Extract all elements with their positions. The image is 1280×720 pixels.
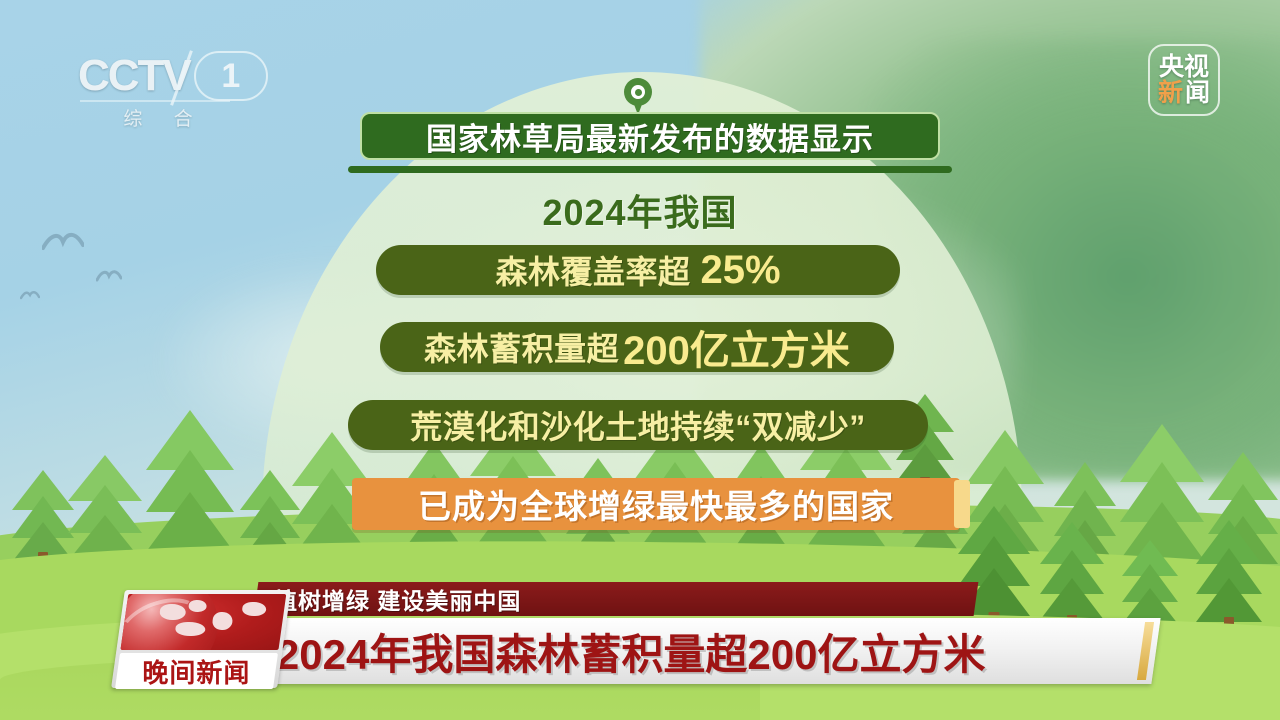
- cctv-news-logo: 央视 新 闻: [1148, 44, 1220, 116]
- tree-illustration: [12, 470, 74, 566]
- logo-underline: [80, 100, 230, 102]
- broadcast-screen: CCTV 1 综 合 央视 新 闻 国家林草局最新发布的数据显示 2024年我国…: [0, 0, 1280, 720]
- tree-illustration: [146, 410, 234, 568]
- location-pin-icon: [624, 78, 652, 116]
- program-logo-evening-news: 晚间新闻: [111, 590, 291, 688]
- news-logo-line1: 央视: [1159, 55, 1209, 80]
- channel-number-badge: 1: [194, 51, 268, 101]
- stat-row-forest-coverage: 森林覆盖率超 25%: [376, 245, 900, 295]
- tree-illustration: [1040, 522, 1104, 628]
- lower-third-headline: 2024年我国森林蓄积量超200亿立方米: [241, 618, 1160, 684]
- channel-subtitle: 综 合: [78, 104, 238, 131]
- stat-row-forest-stock: 森林蓄积量超 200亿立方米: [380, 322, 894, 372]
- bird-icon: [20, 288, 40, 306]
- stat-label-1: 森林蓄积量超: [424, 324, 619, 370]
- tree-illustration: [1196, 520, 1262, 630]
- channel-number: 1: [221, 59, 240, 93]
- bird-icon: [96, 268, 122, 289]
- headline-text: 2024年我国森林蓄积量超200亿立方米: [276, 621, 986, 682]
- headline-gold-accent: [1137, 622, 1154, 680]
- stat-row-desertification: 荒漠化和沙化土地持续“双减少”: [348, 400, 928, 450]
- lower-third-kicker: 植树增绿 建设美丽中国: [254, 582, 979, 616]
- infographic-subtitle: 2024年我国: [0, 184, 1280, 236]
- infographic-header-text: 国家林草局最新发布的数据显示: [426, 114, 874, 159]
- header-underline-bar: [348, 166, 952, 173]
- news-logo-wen: 闻: [1185, 81, 1210, 106]
- stat-label-3: 已成为全球增绿最快最多的国家: [418, 480, 894, 528]
- stat-value-0: 25%: [700, 248, 780, 293]
- infographic-header-banner: 国家林草局最新发布的数据显示: [360, 112, 940, 160]
- stat-row-global-greening: 已成为全球增绿最快最多的国家: [352, 478, 960, 530]
- kicker-text: 植树增绿 建设美丽中国: [274, 582, 521, 616]
- news-logo-xin: 新: [1158, 81, 1183, 106]
- cctv-wordmark: CCTV: [78, 54, 190, 98]
- orange-bar-accent: [954, 480, 970, 528]
- stat-label-2: 荒漠化和沙化土地持续“双减少”: [410, 402, 866, 448]
- cctv1-channel-logo: CCTV 1 综 合: [78, 50, 268, 134]
- program-logo-text: 晚间新闻: [142, 653, 250, 690]
- globe-icon: [120, 594, 286, 650]
- stat-label-0: 森林覆盖率超: [495, 247, 690, 293]
- stat-value-1: 200亿立方米: [623, 318, 850, 376]
